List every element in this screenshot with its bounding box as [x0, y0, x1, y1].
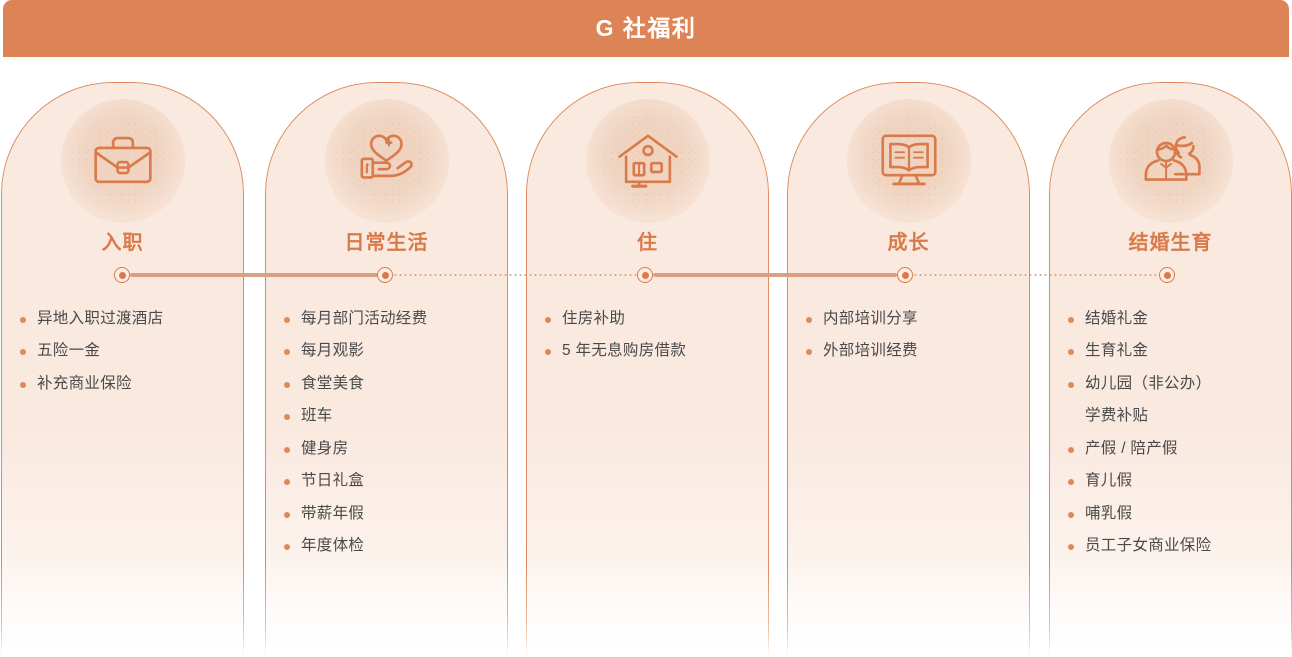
benefit-list-marriage-parenting: 结婚礼金 生育礼金 幼儿园（非公办） 学费补贴 产假 / 陪产假	[1050, 308, 1291, 568]
list-item-label: 产假 / 陪产假	[1085, 438, 1178, 460]
benefit-card-growth[interactable]: 成长 内部培训分享 外部培训经费	[787, 82, 1030, 657]
benefit-list-onboarding: 异地入职过渡酒店 五险一金 补充商业保险	[2, 308, 243, 405]
list-item: 食堂美食	[284, 373, 493, 395]
list-item: 健身房	[284, 438, 493, 460]
benefit-list-growth: 内部培训分享 外部培训经费	[788, 308, 1029, 373]
list-item: 节日礼盒	[284, 470, 493, 492]
couple-icon	[1136, 126, 1206, 196]
list-item: 每月部门活动经费	[284, 308, 493, 330]
list-item: 异地入职过渡酒店	[20, 308, 229, 330]
list-item: 五险一金	[20, 340, 229, 362]
list-item-label: 五险一金	[37, 340, 100, 362]
benefit-list-housing: 住房补助 5 年无息购房借款	[527, 308, 768, 373]
list-item: 哺乳假	[1068, 503, 1277, 525]
list-item: 5 年无息购房借款	[545, 340, 754, 362]
list-item-label: 食堂美食	[301, 373, 364, 395]
list-item-label: 带薪年假	[301, 503, 364, 525]
list-item: 年度体检	[284, 535, 493, 557]
book-monitor-icon	[874, 126, 944, 196]
bullet-dot	[20, 317, 26, 323]
bullet-dot	[1068, 349, 1074, 355]
bullet-dot	[545, 317, 551, 323]
bullet-dot	[284, 447, 290, 453]
benefits-infographic: G 社福利 入职 异地入职过渡酒店	[0, 0, 1292, 657]
list-item-label: 健身房	[301, 438, 348, 460]
list-item: 带薪年假	[284, 503, 493, 525]
bullet-dot	[806, 317, 812, 323]
list-item-label: 幼儿园（非公办）	[1085, 373, 1211, 395]
benefit-card-daily-life[interactable]: 日常生活 每月部门活动经费 每月观影 食堂美食 班车	[265, 82, 508, 657]
bullet-dot	[1068, 317, 1074, 323]
list-item-label: 节日礼盒	[301, 470, 364, 492]
list-item: 内部培训分享	[806, 308, 1015, 330]
bullet-dot	[284, 317, 290, 323]
list-item: 幼儿园（非公办）	[1068, 373, 1277, 395]
bullet-dot	[284, 544, 290, 550]
bullet-dot	[284, 479, 290, 485]
list-item-label: 异地入职过渡酒店	[37, 308, 163, 330]
briefcase-icon	[88, 126, 158, 196]
list-item: 员工子女商业保险	[1068, 535, 1277, 557]
icon-wrap-marriage-parenting	[1109, 99, 1233, 223]
list-item: 产假 / 陪产假	[1068, 438, 1277, 460]
list-item-label: 内部培训分享	[823, 308, 918, 330]
bullet-dot	[284, 382, 290, 388]
icon-wrap-growth	[847, 99, 971, 223]
hand-heart-icon	[352, 126, 422, 196]
bullet-dot	[806, 349, 812, 355]
list-item-label: 年度体检	[301, 535, 364, 557]
bullet-dot	[284, 349, 290, 355]
list-item: 育儿假	[1068, 470, 1277, 492]
list-item-label: 生育礼金	[1085, 340, 1148, 362]
list-item-label: 结婚礼金	[1085, 308, 1148, 330]
list-item: 外部培训经费	[806, 340, 1015, 362]
list-item: 班车	[284, 405, 493, 427]
bullet-dot	[1068, 479, 1074, 485]
list-item-label: 哺乳假	[1085, 503, 1132, 525]
list-item-continuation: 学费补贴	[1068, 405, 1277, 427]
list-item-label: 5 年无息购房借款	[562, 340, 686, 362]
list-item: 结婚礼金	[1068, 308, 1277, 330]
bullet-dot	[545, 349, 551, 355]
header-bar: G 社福利	[3, 0, 1289, 57]
bullet-dot	[20, 382, 26, 388]
list-item-label: 补充商业保险	[37, 373, 132, 395]
bullet-dot	[1068, 447, 1074, 453]
list-item-label: 每月部门活动经费	[301, 308, 427, 330]
benefit-card-marriage-parenting[interactable]: 结婚生育 结婚礼金 生育礼金 幼儿园（非公办） 学费补贴	[1049, 82, 1292, 657]
bullet-dot-placeholder	[1068, 414, 1074, 420]
bullet-dot	[284, 414, 290, 420]
bullet-dot	[20, 349, 26, 355]
list-item-label: 育儿假	[1085, 470, 1132, 492]
card-title-marriage-parenting: 结婚生育	[1050, 231, 1291, 255]
bullet-dot	[1068, 544, 1074, 550]
list-item-label: 员工子女商业保险	[1085, 535, 1211, 557]
icon-wrap-housing	[586, 99, 710, 223]
list-item-label: 外部培训经费	[823, 340, 918, 362]
list-item-label: 班车	[301, 405, 333, 427]
page-title: G 社福利	[596, 17, 697, 40]
card-title-onboarding: 入职	[2, 231, 243, 255]
icon-wrap-daily-life	[325, 99, 449, 223]
icon-wrap-onboarding	[61, 99, 185, 223]
bullet-dot	[284, 512, 290, 518]
card-title-daily-life: 日常生活	[266, 231, 507, 255]
benefit-list-daily-life: 每月部门活动经费 每月观影 食堂美食 班车 健身房	[266, 308, 507, 568]
list-item-label: 每月观影	[301, 340, 364, 362]
list-item-label: 住房补助	[562, 308, 625, 330]
card-title-housing: 住	[527, 231, 768, 255]
bullet-dot	[1068, 382, 1074, 388]
card-title-growth: 成长	[788, 231, 1029, 255]
list-item-label: 学费补贴	[1085, 405, 1148, 427]
benefit-card-onboarding[interactable]: 入职 异地入职过渡酒店 五险一金 补充商业保险	[1, 82, 244, 657]
bullet-dot	[1068, 512, 1074, 518]
house-icon	[613, 126, 683, 196]
benefit-card-housing[interactable]: 住 住房补助 5 年无息购房借款	[526, 82, 769, 657]
list-item: 补充商业保险	[20, 373, 229, 395]
list-item: 每月观影	[284, 340, 493, 362]
list-item: 生育礼金	[1068, 340, 1277, 362]
list-item: 住房补助	[545, 308, 754, 330]
cards-row: 入职 异地入职过渡酒店 五险一金 补充商业保险	[0, 82, 1292, 657]
